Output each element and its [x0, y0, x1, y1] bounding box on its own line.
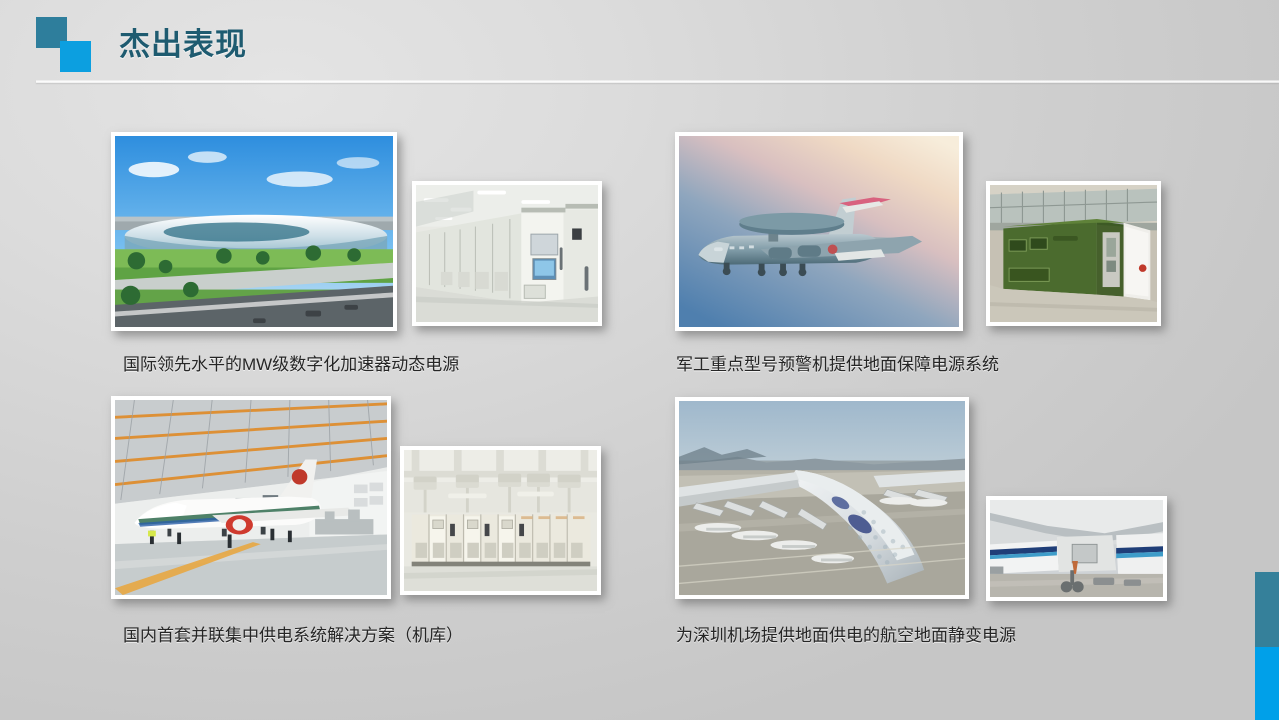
military-shelter-photo — [986, 181, 1161, 326]
edge-bar-blue — [1255, 647, 1279, 720]
edge-bar-teal — [1255, 572, 1279, 647]
aircraft-hangar-photo — [111, 396, 391, 599]
awacs-aircraft-photo — [675, 132, 963, 331]
header-divider — [36, 80, 1279, 83]
item-caption: 为深圳机场提供地面供电的航空地面静变电源 — [676, 621, 1016, 646]
page-title: 杰出表现 — [119, 19, 247, 64]
slide-header: 杰出表现 — [0, 0, 1279, 92]
stadium-photo — [111, 132, 397, 331]
control-cabinets-photo — [412, 181, 602, 326]
aircraft-underwing-photo — [986, 496, 1167, 601]
power-cabinets-photo — [400, 446, 601, 595]
shenzhen-airport-photo — [675, 397, 969, 599]
item-caption: 国内首套并联集中供电系统解决方案（机库） — [123, 621, 463, 646]
item-caption: 军工重点型号预警机提供地面保障电源系统 — [676, 350, 999, 375]
decor-square-blue-icon — [60, 41, 91, 72]
item-caption: 国际领先水平的MW级数字化加速器动态电源 — [123, 350, 459, 375]
